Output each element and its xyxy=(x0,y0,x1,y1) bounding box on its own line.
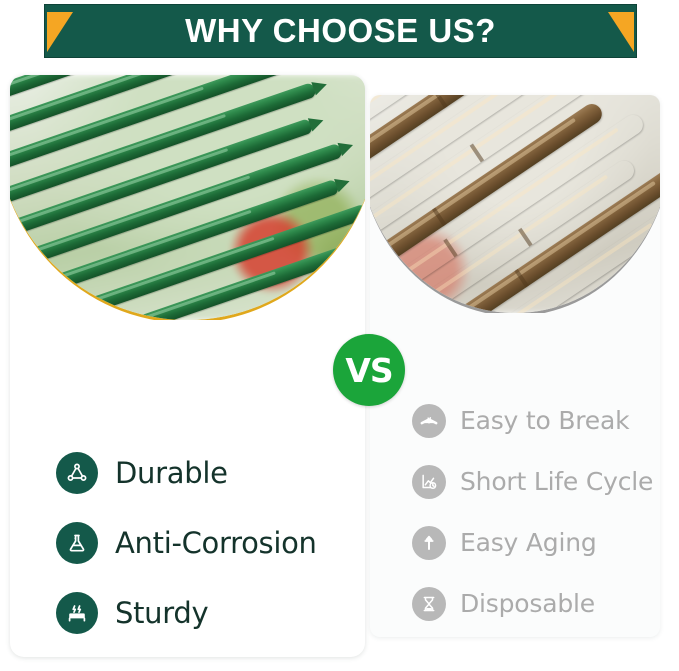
list-item[interactable]: Easy Aging xyxy=(412,512,657,573)
right-photo-ellipse-mask xyxy=(370,95,660,313)
list-item[interactable]: Durable xyxy=(56,438,356,508)
list-item-label: Short Life Cycle xyxy=(460,469,653,494)
right-product-photo xyxy=(370,95,660,313)
load-beam-icon xyxy=(56,592,98,634)
declining-chart-clock-icon xyxy=(412,465,446,499)
disadvantages-list: Easy to Break Short Life Cycle xyxy=(412,390,657,634)
broken-beam-icon xyxy=(412,404,446,438)
list-item[interactable]: Sturdy xyxy=(56,578,356,648)
list-item-label: Easy Aging xyxy=(460,530,597,555)
vs-badge: VS xyxy=(333,334,405,406)
hourglass-icon xyxy=(412,587,446,621)
aging-arrow-icon xyxy=(412,526,446,560)
page-title: WHY CHOOSE US? xyxy=(45,14,636,47)
left-product-card: Durable Anti-Corrosion xyxy=(10,75,365,657)
list-item-label: Disposable xyxy=(460,591,595,616)
list-item[interactable]: Reusable xyxy=(56,648,356,657)
list-item-label: Durable xyxy=(115,459,228,488)
list-item-label: Easy to Break xyxy=(460,408,629,433)
left-photo-ellipse-mask xyxy=(10,75,365,320)
green-stakes-illustration xyxy=(10,75,365,320)
list-item-label: Anti-Corrosion xyxy=(115,529,317,558)
flask-icon xyxy=(56,522,98,564)
molecule-triangle-icon xyxy=(56,452,98,494)
list-item[interactable]: Short Life Cycle xyxy=(412,451,657,512)
list-item[interactable]: Easy to Break xyxy=(412,390,657,451)
left-product-photo xyxy=(10,75,365,320)
list-item[interactable]: Disposable xyxy=(412,573,657,634)
header-banner: WHY CHOOSE US? xyxy=(44,4,637,58)
list-item-label: Sturdy xyxy=(115,599,208,628)
right-competitor-card: Easy to Break Short Life Cycle xyxy=(370,95,660,637)
bamboo-canes-illustration xyxy=(370,95,660,313)
list-item[interactable]: Anti-Corrosion xyxy=(56,508,356,578)
advantages-list: Durable Anti-Corrosion xyxy=(56,438,356,657)
infographic-canvas: WHY CHOOSE US? xyxy=(0,0,679,671)
vs-label: VS xyxy=(345,354,392,387)
